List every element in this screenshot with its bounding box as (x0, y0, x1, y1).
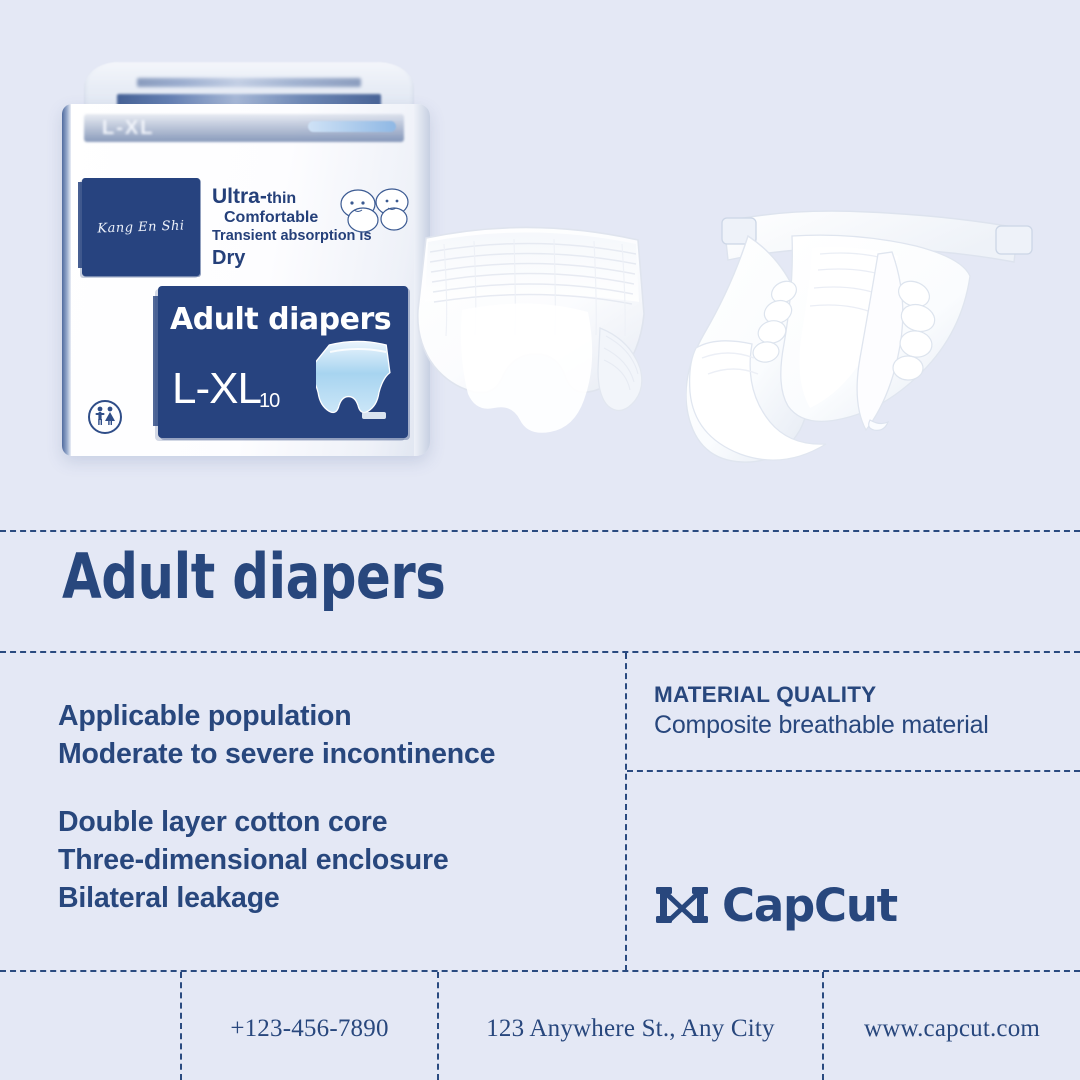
spec-line: Three-dimensional enclosure (58, 842, 603, 880)
left-spec-list: Applicable population Moderate to severe… (58, 698, 603, 917)
spec-line: Double layer cotton core (58, 804, 603, 842)
page-title: Adult diapers (62, 546, 445, 608)
package-claim-dry-emphasis: Dry (212, 247, 245, 269)
spec-line: Moderate to severe incontinence (58, 736, 603, 774)
divider-footer-top (0, 970, 1080, 972)
product-package: L-XL Kang En Shi Ultra-thin Comfortable … (62, 62, 432, 457)
unisex-figures-icon (88, 400, 122, 434)
package-front-face: L-XL Kang En Shi Ultra-thin Comfortable … (62, 104, 430, 456)
material-quality-block: MATERIAL QUALITY Composite breathable ma… (654, 680, 1066, 742)
pull-up-diaper-photo (404, 208, 662, 478)
package-claim-ultrathin-prefix: Ultra- (212, 185, 267, 208)
package-title-plate: Adult diapers L-XL10 (158, 286, 408, 438)
divider-title-bottom (0, 651, 1080, 653)
package-top-banner-pill (308, 121, 396, 132)
package-claim-ultrathin-suffix: thin (267, 190, 296, 207)
divider-material-bottom (627, 770, 1080, 772)
spec-line: Applicable population (58, 698, 603, 736)
cotton-balls-icon (330, 184, 414, 236)
capcut-bowtie-icon (656, 882, 708, 928)
package-brand-name: Kang En Shi (82, 218, 200, 237)
footer-address: 123 Anywhere St., Any City (439, 1000, 822, 1058)
package-size-value: L-XL (172, 364, 261, 413)
divider-hero-bottom (0, 530, 1080, 532)
package-size-label: L-XL10 (172, 364, 281, 414)
material-quality-heading: MATERIAL QUALITY (654, 680, 1066, 709)
package-flap-band-upper (137, 78, 361, 87)
package-product-title: Adult diapers (170, 302, 391, 337)
capcut-logo-text: CapCut (722, 883, 897, 928)
capcut-logo: CapCut (656, 882, 897, 928)
tape-brief-diaper-photo (686, 196, 1058, 468)
footer-website[interactable]: www.capcut.com (824, 1000, 1080, 1058)
package-left-edge (62, 104, 71, 456)
footer-phone[interactable]: +123-456-7890 (182, 1000, 437, 1058)
hero-product-photo-area: L-XL Kang En Shi Ultra-thin Comfortable … (0, 0, 1080, 530)
spec-group-population: Applicable population Moderate to severe… (58, 698, 603, 774)
spec-line: Bilateral leakage (58, 880, 603, 918)
spec-group-features: Double layer cotton core Three-dimension… (58, 804, 603, 918)
material-quality-value: Composite breathable material (654, 709, 1066, 742)
package-brand-badge: Kang En Shi (82, 178, 200, 276)
divider-column-vertical (625, 653, 627, 971)
poster-canvas: L-XL Kang En Shi Ultra-thin Comfortable … (0, 0, 1080, 1080)
pullup-diaper-thumbnail-icon (316, 334, 398, 426)
package-count-value: 10 (259, 390, 279, 412)
